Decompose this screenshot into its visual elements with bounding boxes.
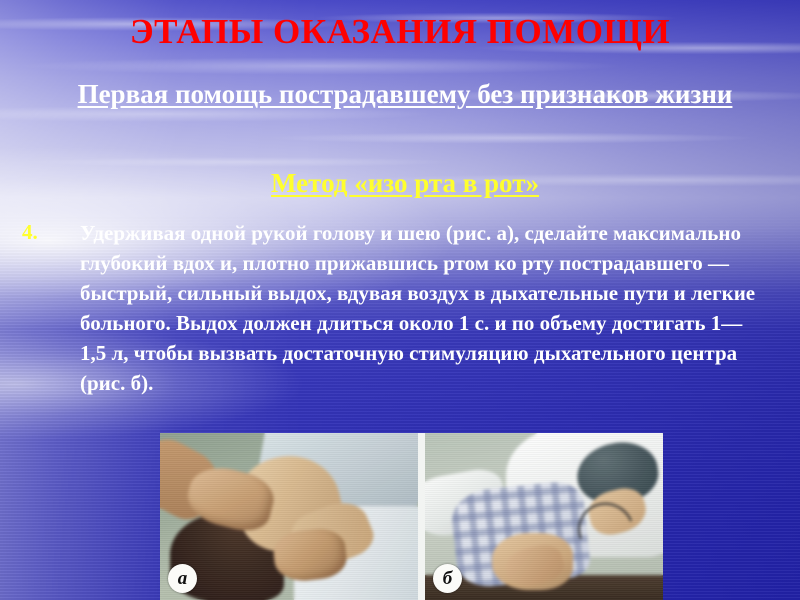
figure-panel-b: б [425,433,663,600]
figure-photo-panel: а б [160,433,663,600]
panel-a-grain [160,433,418,600]
figure-panel-a: а [160,433,418,600]
figure-label-b: б [433,564,462,593]
method-heading: Метод «изо рта в рот» [60,167,750,201]
presentation-slide: ЭТАПЫ ОКАЗАНИЯ ПОМОЩИ Первая помощь пост… [0,0,800,600]
figure-panel-divider [418,433,425,600]
page-title: ЭТАПЫ ОКАЗАНИЯ ПОМОЩИ [0,14,800,51]
figure-label-a: а [168,564,197,593]
slide-subtitle: Первая помощь пострадавшему без признако… [60,77,750,112]
list-item-text: Удерживая одной рукой голову и шею (рис.… [80,218,762,398]
numbered-list-item: 4. Удерживая одной рукой голову и шею (р… [22,218,762,398]
slide-content: ЭТАПЫ ОКАЗАНИЯ ПОМОЩИ Первая помощь пост… [0,0,800,600]
list-item-number: 4. [22,218,80,248]
